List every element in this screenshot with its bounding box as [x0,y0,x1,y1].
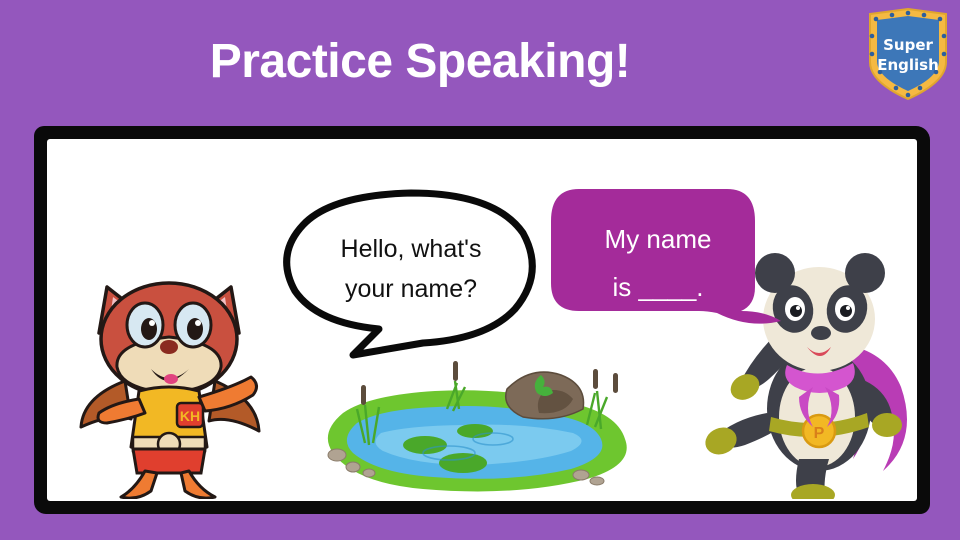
page-title: Practice Speaking! [0,34,840,89]
slide-root: Practice Speaking! Super English [0,0,960,540]
fox-emblem-label: KH [180,408,200,424]
logo-line-1: Super [883,36,933,54]
superhero-fox-character: KH [65,251,273,499]
speech-bubble-question: Hello, what's your name? [283,187,539,359]
speech-bubble-answer: My name is ____. [549,187,781,337]
super-english-logo[interactable]: Super English [862,6,954,102]
pond-illustration [295,347,647,497]
speech-bubble-answer-text: My name is ____. [563,215,753,311]
lesson-panel: KH [34,126,930,514]
answer-line-2: is ____. [563,263,753,311]
logo-line-2: English [877,56,939,74]
answer-line-1: My name [563,215,753,263]
panel-content: KH [47,139,917,501]
question-line-2: your name? [301,269,521,309]
speech-bubble-question-text: Hello, what's your name? [301,229,521,309]
question-line-1: Hello, what's [301,229,521,269]
panda-emblem-label: P [814,425,825,442]
shield-icon: Super English [862,6,954,102]
